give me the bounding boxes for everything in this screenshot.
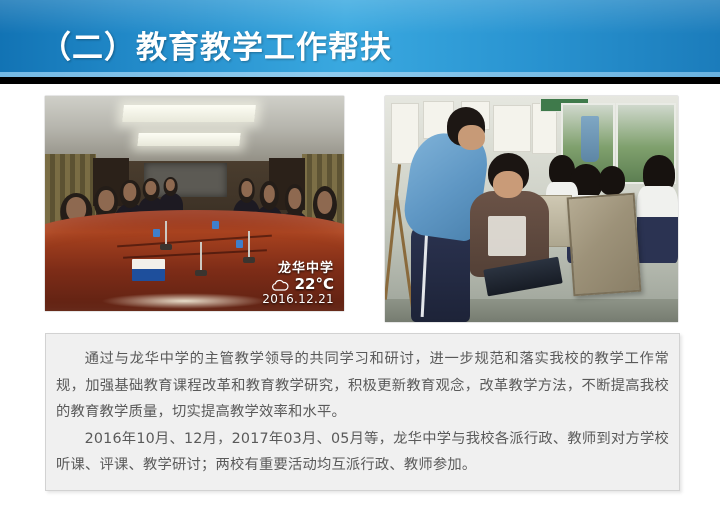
watermark-school-name: 龙华中学 <box>262 262 334 276</box>
water-cup <box>236 240 243 248</box>
body-text-box: 通过与龙华中学的主管教学领导的共同学习和研讨，进一步规范和落实我校的教学工作常规… <box>45 333 680 491</box>
page-title: （二）教育教学工作帮扶 <box>40 22 392 67</box>
table-light-reflection <box>101 293 268 309</box>
attendee-face <box>263 185 275 203</box>
attendee-face <box>288 188 301 209</box>
attendee-head <box>163 177 178 196</box>
student-uniform <box>637 186 678 263</box>
drawing-board <box>566 193 641 296</box>
student-head <box>599 166 625 195</box>
paragraph-2: 2016年10月、12月，2017年03月、05月等，龙华中学与我校各派行政、教… <box>56 426 669 479</box>
attendee-head <box>260 181 279 210</box>
ceiling-light <box>137 133 240 146</box>
water-cup <box>153 229 160 237</box>
photo-watermark: 龙华中学 22°C 2016.12.21 <box>262 262 334 306</box>
desk-microphone <box>165 221 167 247</box>
attendee-face <box>99 190 114 211</box>
attendee-face <box>241 181 252 196</box>
attendee-face <box>166 179 175 191</box>
attendee-head <box>143 178 160 200</box>
student-shirt-print <box>488 216 526 257</box>
slide-header-banner: （二）教育教学工作帮扶 <box>0 0 720 72</box>
desk-microphone <box>248 231 250 259</box>
wall-poster <box>493 105 530 152</box>
attendee-head <box>284 184 304 218</box>
attendee-head <box>238 178 255 203</box>
hanging-towel <box>581 116 599 161</box>
ceiling-light <box>122 105 255 122</box>
tissue-box <box>132 259 165 281</box>
watermark-weather: 22°C <box>262 277 334 293</box>
photo-right-scene <box>385 96 678 322</box>
attendee-face <box>317 191 332 215</box>
attendee-face <box>124 183 137 200</box>
paragraph-1: 通过与龙华中学的主管教学领导的共同学习和研讨，进一步规范和落实我校的教学工作常规… <box>56 346 669 426</box>
attendee-face <box>146 181 157 195</box>
cloud-icon <box>271 279 289 291</box>
watermark-temperature: 22°C <box>295 277 334 293</box>
watermark-date: 2016.12.21 <box>262 293 334 306</box>
water-cup <box>212 221 219 229</box>
desk-microphone <box>200 242 202 272</box>
header-underline-dark <box>0 77 720 84</box>
student-face <box>493 171 522 198</box>
art-classroom-teaching-photo <box>385 96 678 322</box>
conference-room-meeting-photo: 龙华中学 22°C 2016.12.21 <box>45 96 344 311</box>
teacher-face <box>458 125 484 150</box>
